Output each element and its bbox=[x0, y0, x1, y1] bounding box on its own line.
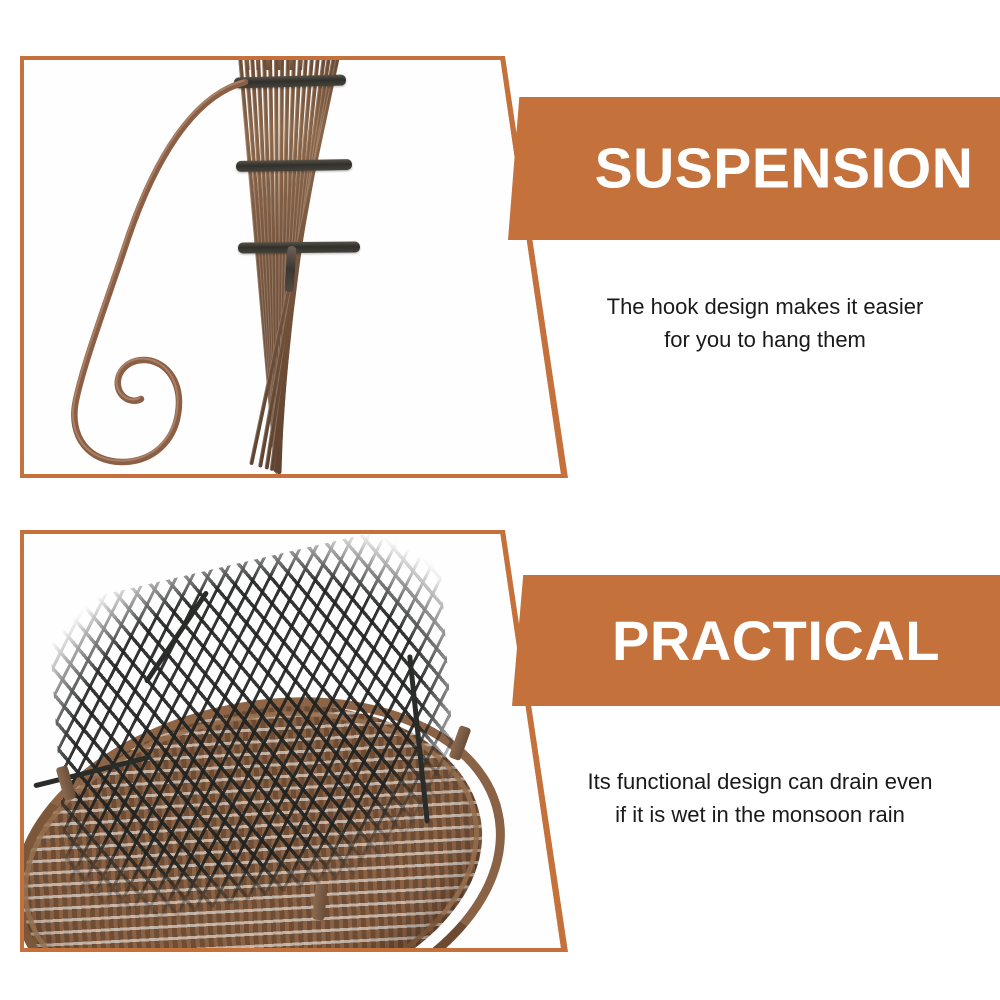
panel-title-suspension: SUSPENSION bbox=[508, 140, 1000, 197]
photo-frame-inner-practical bbox=[24, 534, 564, 948]
caption-line: The hook design makes it easier bbox=[570, 290, 960, 323]
feature-panel-suspension: SUSPENSION The hook design makes it easi… bbox=[0, 0, 1000, 500]
panel-title-practical: PRACTICAL bbox=[512, 613, 1000, 669]
woven-basket bbox=[24, 534, 564, 948]
hanging-hook bbox=[42, 70, 292, 470]
panel-caption-suspension: The hook design makes it easier for you … bbox=[570, 290, 960, 356]
caption-line: Its functional design can drain even bbox=[565, 765, 955, 798]
feature-panel-practical: PRACTICAL Its functional design can drai… bbox=[0, 500, 1000, 1000]
photo-frame-inner-suspension bbox=[24, 60, 564, 474]
panel-caption-practical: Its functional design can drain even if … bbox=[565, 765, 955, 831]
caption-line: for you to hang them bbox=[570, 323, 960, 356]
label-band-practical: PRACTICAL bbox=[512, 575, 1000, 706]
product-photo-basket bbox=[24, 534, 564, 948]
caption-line: if it is wet in the monsoon rain bbox=[565, 798, 955, 831]
photo-frame-practical bbox=[20, 530, 568, 952]
photo-frame-suspension bbox=[20, 56, 568, 478]
label-band-suspension: SUSPENSION bbox=[508, 97, 1000, 240]
infographic-page: SUSPENSION The hook design makes it easi… bbox=[0, 0, 1000, 1000]
product-photo-hook bbox=[24, 60, 564, 474]
